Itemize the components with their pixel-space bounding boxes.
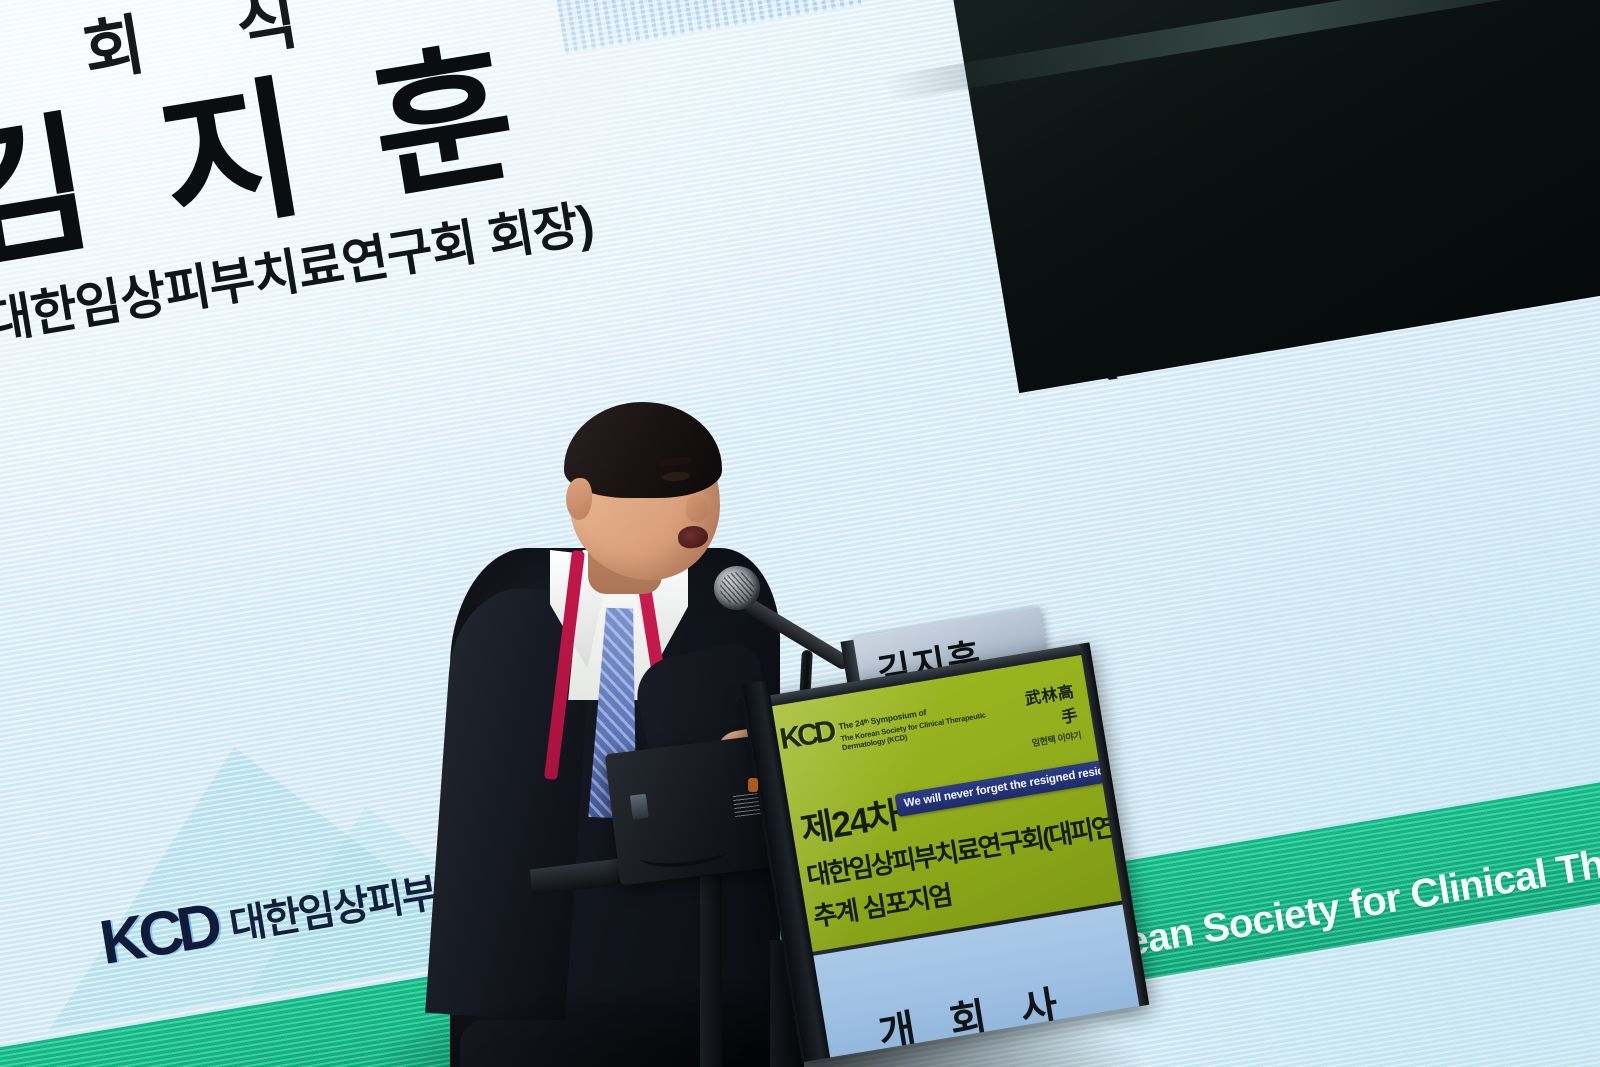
monitor-port bbox=[630, 794, 649, 820]
podium-indicator-light bbox=[748, 778, 758, 792]
poster-cjk-headline: 武林高手 bbox=[1015, 678, 1080, 735]
nose bbox=[686, 496, 708, 522]
ear bbox=[566, 478, 592, 520]
microphone-capsule bbox=[714, 566, 760, 610]
cityscape-photo-strip bbox=[525, 0, 862, 54]
left-screen-text-block: 개 회 식 김 지 훈 (대한임상피부치료연구회 회장) bbox=[0, 0, 598, 357]
conference-stage-photo: 개 회 식 김 지 훈 (대한임상피부치료연구회 회장) 료연구회 The Ko… bbox=[0, 0, 1600, 1067]
poster-cjk-block: 武林高手 임현택 이야기 bbox=[1015, 678, 1082, 751]
microphone-grill bbox=[720, 572, 754, 604]
poster-kcd-mark: KCD bbox=[778, 718, 835, 755]
desk-leg bbox=[700, 876, 722, 1067]
